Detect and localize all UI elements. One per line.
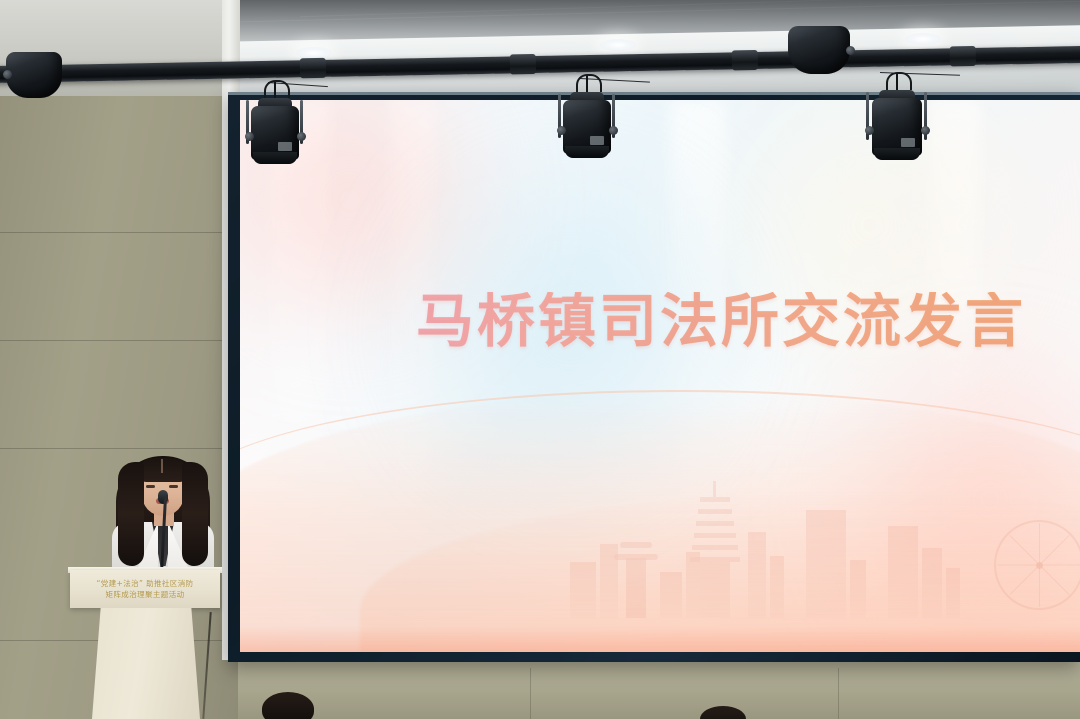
- stage-light-knob: [921, 126, 930, 135]
- podium-banner: “党建+法治” 助推社区消防 矩阵成治理聚主题活动: [70, 570, 220, 608]
- stage-light-hook: [576, 74, 602, 92]
- stage-light-far-left: [6, 44, 62, 98]
- stage-light-lens: [565, 146, 609, 158]
- skyline-building: [570, 562, 596, 618]
- stage-light-badge: [901, 138, 915, 147]
- tower-base: [700, 562, 730, 618]
- skyline-building: [748, 532, 766, 618]
- speaker-hair-part: [161, 459, 163, 473]
- wall-seam: [838, 668, 839, 719]
- tower-spire: [713, 481, 716, 497]
- podium-banner-line1: “党建+法治” 助推社区消防: [70, 578, 220, 589]
- stage-light-body: [872, 98, 922, 156]
- tower-tier: [694, 533, 736, 538]
- speaker-hair-right: [182, 462, 208, 566]
- tower-tier: [700, 497, 730, 502]
- skyline-building: [946, 568, 960, 618]
- stage-light-knob: [846, 46, 855, 55]
- stage-light-hook: [264, 80, 290, 98]
- speaker-eye: [146, 485, 155, 488]
- stage-light-far-right: [788, 18, 850, 74]
- stage-light-knob: [609, 126, 618, 135]
- tower-tier: [692, 545, 738, 550]
- wall-seam: [0, 232, 238, 233]
- pagoda-body: [626, 558, 646, 618]
- stage-light-lens: [253, 152, 297, 164]
- stage-light-left: [244, 98, 306, 172]
- stage-light-right: [864, 90, 930, 168]
- skyline-highrise: [888, 526, 918, 618]
- speaker-eye: [169, 485, 178, 488]
- wall-seam: [0, 340, 238, 341]
- stage-light-knob: [245, 132, 254, 141]
- stage-light-badge: [278, 142, 292, 151]
- slide-title: 马桥镇司法所交流发言: [416, 292, 1026, 350]
- ferris-wheel-icon: [994, 520, 1080, 610]
- tower-tier: [696, 521, 734, 526]
- screen-frame-highlight: [228, 92, 1080, 95]
- podium-banner-line2: 矩阵成治理聚主题活动: [70, 589, 220, 600]
- speaker-hair-left: [118, 462, 144, 566]
- stage-light-badge: [590, 136, 604, 145]
- audience-head-1: [262, 692, 314, 719]
- stage-light-body: [788, 26, 850, 74]
- stage-light-hook: [886, 72, 912, 90]
- skyline-building: [770, 556, 784, 618]
- truss-joint: [732, 50, 758, 70]
- stage-light-knob: [297, 132, 306, 141]
- truss-joint: [510, 54, 536, 74]
- skyline-building: [660, 572, 682, 618]
- truss-joint: [300, 58, 326, 78]
- speaker-fringe: [138, 458, 188, 482]
- stage-light-body: [563, 100, 611, 154]
- projection-screen: 马桥镇司法所交流发言: [240, 100, 1080, 652]
- pagoda-roof: [620, 542, 652, 548]
- stage-light-body: [6, 52, 62, 98]
- stage-light-center: [556, 92, 618, 166]
- wall-seam: [0, 448, 238, 449]
- stage-light-knob: [557, 126, 566, 135]
- speaker-figure: [108, 452, 218, 577]
- skyline-building: [850, 560, 866, 618]
- truss-joint: [950, 46, 976, 66]
- podium-body: [92, 608, 200, 719]
- wall-seam: [530, 668, 531, 719]
- stage-light-knob: [3, 70, 12, 79]
- stage-light-body: [251, 106, 299, 160]
- skyline-graphic: [570, 468, 1080, 618]
- screen-bottom-glow: [240, 626, 1080, 652]
- skyline-building: [922, 548, 942, 618]
- stage-light-lens: [874, 148, 920, 160]
- tower-tier: [698, 509, 732, 514]
- presentation-photo-scene: 马桥镇司法所交流发言: [0, 0, 1080, 719]
- skyline-office-tower: [806, 510, 846, 618]
- stage-light-knob: [865, 126, 874, 135]
- downlight-icon: [600, 39, 636, 51]
- downlight-icon: [905, 33, 941, 45]
